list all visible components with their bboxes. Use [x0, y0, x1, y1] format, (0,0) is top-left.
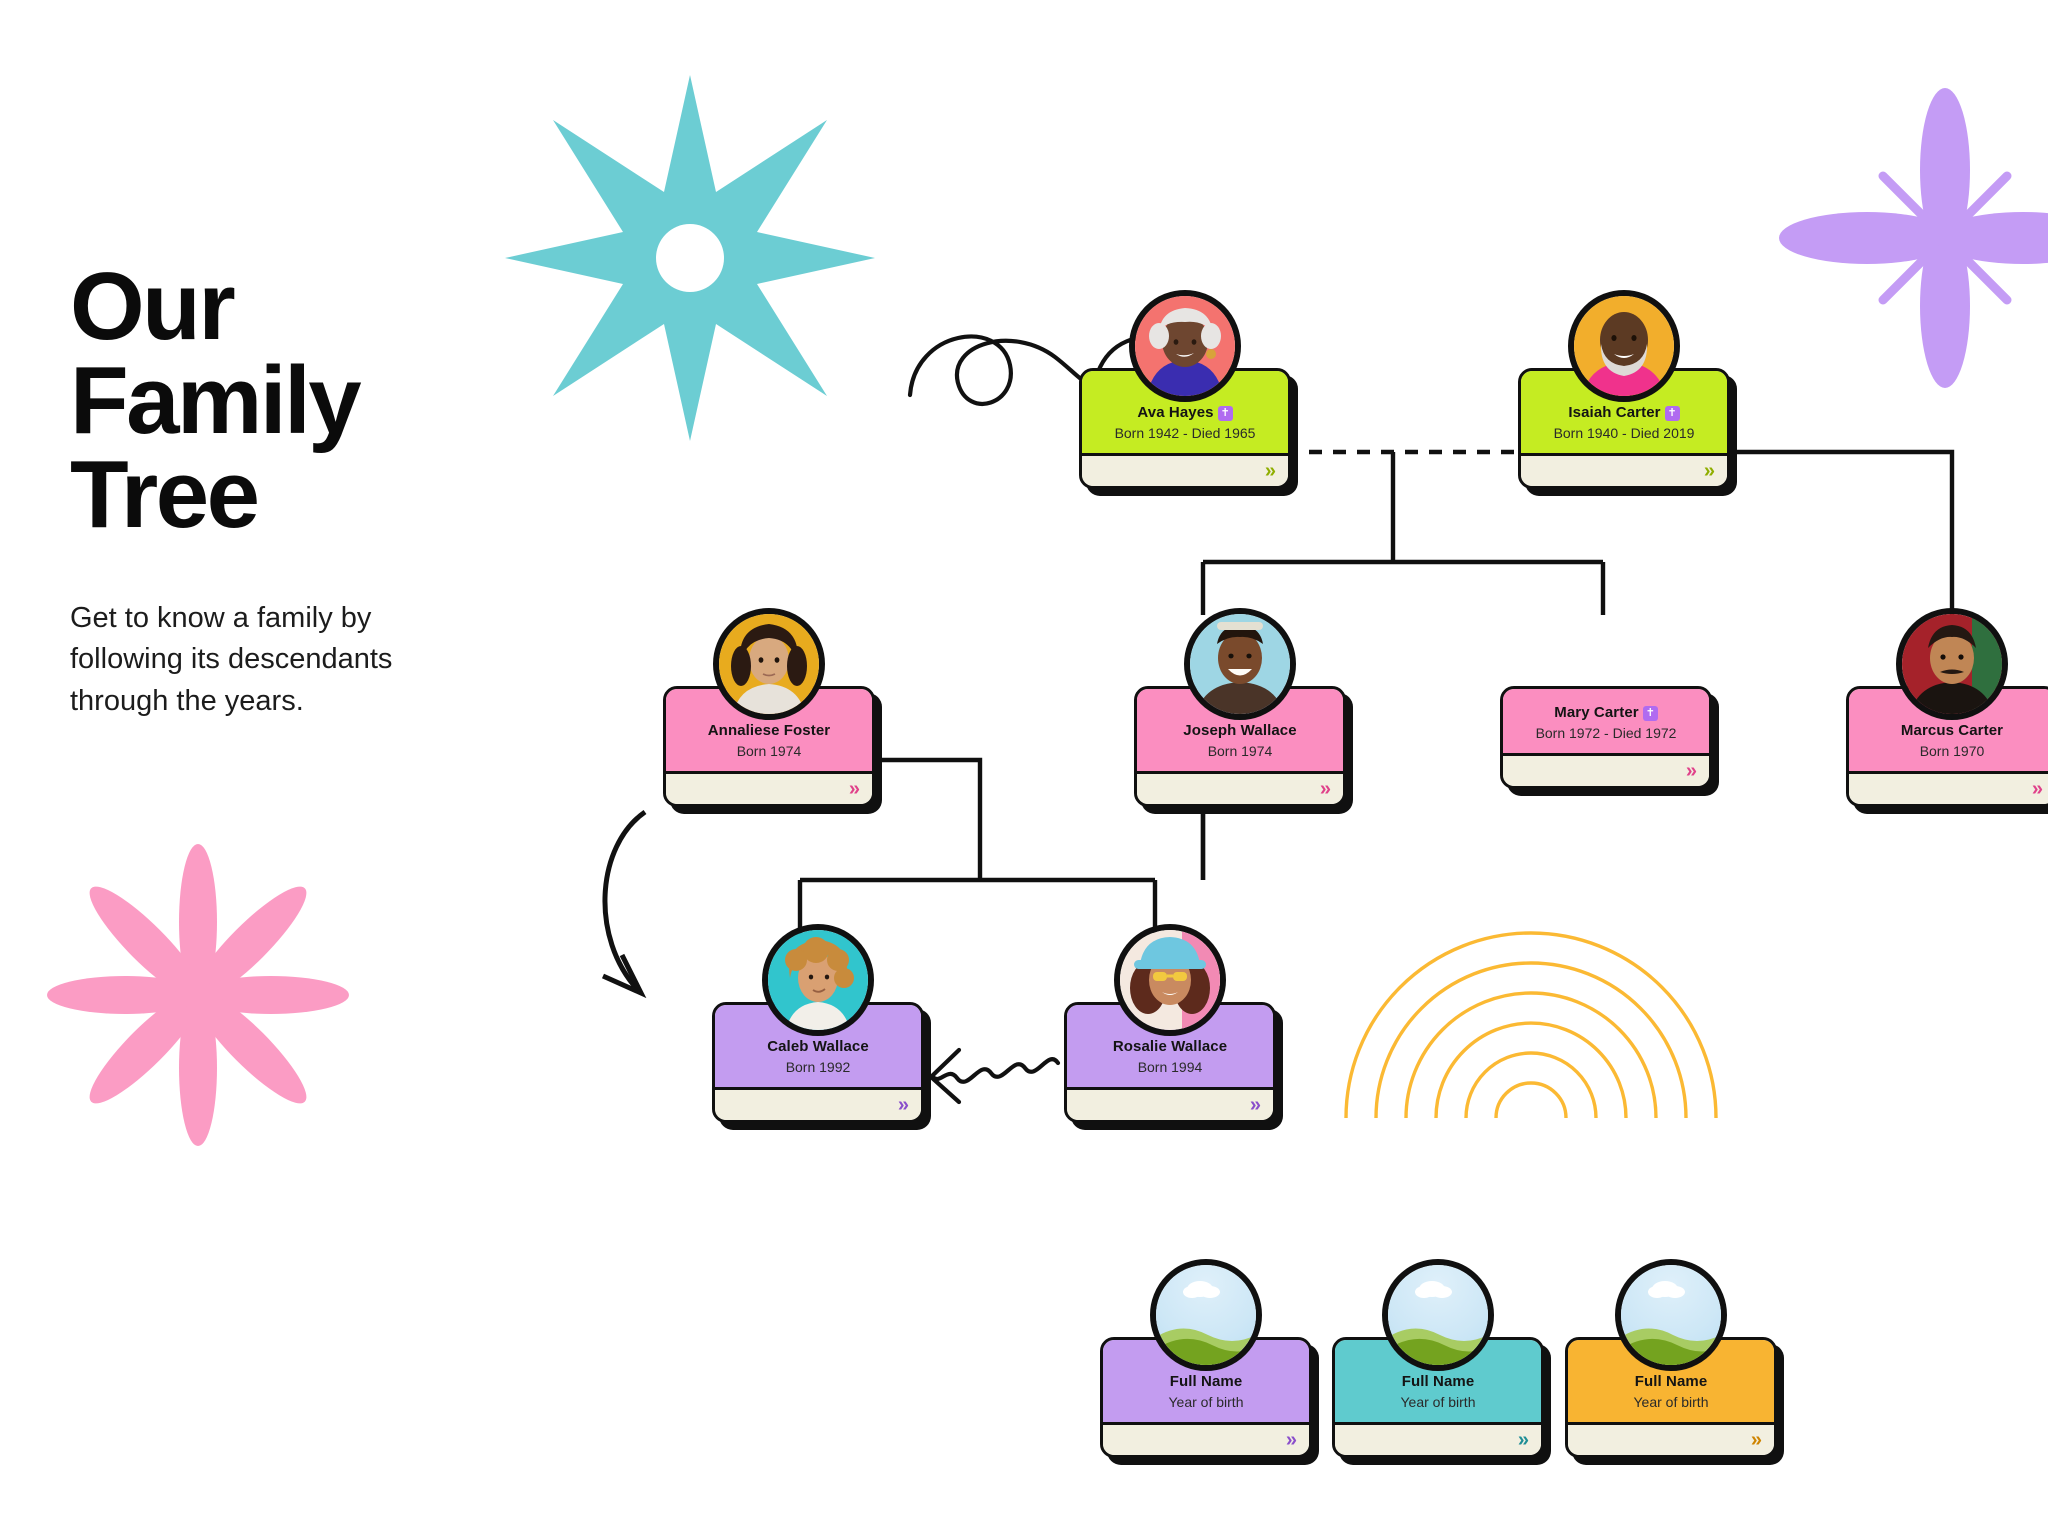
avatar-placeholder-purple	[1150, 1259, 1262, 1371]
person-name-text: Ava Hayes	[1137, 405, 1213, 422]
person-dates: Born 1994	[1075, 1060, 1265, 1075]
card-footer-rosalie-wallace[interactable]: »	[1067, 1090, 1273, 1120]
card-footer-ava-hayes[interactable]: »	[1082, 456, 1288, 486]
person-name: Full Name	[1343, 1374, 1533, 1391]
avatar-placeholder-teal	[1382, 1259, 1494, 1371]
portrait-man-smiling-icon	[1190, 614, 1290, 714]
card-footer-template-teal[interactable]: »	[1335, 1425, 1541, 1455]
avatar-joseph-wallace	[1184, 608, 1296, 720]
portrait-man-bald-beard-icon	[1574, 296, 1674, 396]
person-name: Ava Hayes ✝	[1090, 405, 1280, 422]
avatar-ava-hayes	[1129, 290, 1241, 402]
landscape-placeholder-icon	[1156, 1265, 1256, 1365]
person-name: Marcus Carter	[1857, 723, 2047, 740]
family-tree-canvas: Our Family Tree Get to know a family by …	[0, 0, 2048, 1536]
headline-block: Our Family Tree Get to know a family by …	[70, 260, 490, 722]
portrait-man-moustache-icon	[1902, 614, 2002, 714]
person-name-text: Caleb Wallace	[767, 1039, 869, 1056]
person-dates: Year of birth	[1343, 1395, 1533, 1410]
person-dates: Born 1992	[723, 1060, 913, 1075]
person-name: Mary Carter ✝	[1511, 705, 1701, 722]
avatar-placeholder-amber	[1615, 1259, 1727, 1371]
person-dates: Year of birth	[1111, 1395, 1301, 1410]
person-name-text: Full Name	[1402, 1374, 1475, 1391]
card-footer-template-amber[interactable]: »	[1568, 1425, 1774, 1455]
person-name-text: Rosalie Wallace	[1113, 1039, 1227, 1056]
person-dates: Year of birth	[1576, 1395, 1766, 1410]
person-name: Full Name	[1576, 1374, 1766, 1391]
card-footer-template-purple[interactable]: »	[1103, 1425, 1309, 1455]
person-name: Caleb Wallace	[723, 1039, 913, 1056]
card-footer-mary-carter[interactable]: »	[1503, 756, 1709, 786]
person-name-text: Isaiah Carter	[1568, 405, 1660, 422]
person-dates: Born 1970	[1857, 744, 2047, 759]
expand-chevron-icon[interactable]: »	[1265, 461, 1276, 481]
avatar-isaiah-carter	[1568, 290, 1680, 402]
card-footer-isaiah-carter[interactable]: »	[1521, 456, 1727, 486]
person-dates: Born 1974	[1145, 744, 1335, 759]
person-name-text: Full Name	[1635, 1374, 1708, 1391]
landscape-placeholder-icon	[1621, 1265, 1721, 1365]
expand-chevron-icon[interactable]: »	[898, 1095, 909, 1115]
expand-chevron-icon[interactable]: »	[849, 779, 860, 799]
landscape-placeholder-icon	[1388, 1265, 1488, 1365]
portrait-person-curly-blonde-icon	[768, 930, 868, 1030]
expand-chevron-icon[interactable]: »	[1518, 1430, 1529, 1450]
card-footer-caleb-wallace[interactable]: »	[715, 1090, 921, 1120]
card-footer-annaliese-foster[interactable]: »	[666, 774, 872, 804]
expand-chevron-icon[interactable]: »	[1704, 461, 1715, 481]
person-dates: Born 1972 - Died 1972	[1511, 726, 1701, 741]
person-name-text: Joseph Wallace	[1183, 723, 1296, 740]
person-name: Joseph Wallace	[1145, 723, 1335, 740]
portrait-woman-curly-hair-icon	[719, 614, 819, 714]
person-name: Full Name	[1111, 1374, 1301, 1391]
page-subtitle: Get to know a family by following its de…	[70, 598, 455, 722]
expand-chevron-icon[interactable]: »	[1686, 761, 1697, 781]
person-name-text: Annaliese Foster	[708, 723, 830, 740]
person-dates: Born 1974	[674, 744, 864, 759]
expand-chevron-icon[interactable]: »	[1751, 1430, 1762, 1450]
person-name-text: Marcus Carter	[1901, 723, 2003, 740]
page-title: Our Family Tree	[70, 260, 490, 542]
card-footer-joseph-wallace[interactable]: »	[1137, 774, 1343, 804]
person-name: Annaliese Foster	[674, 723, 864, 740]
deceased-marker-icon: ✝	[1643, 706, 1658, 721]
isaiah-right-branch	[1732, 452, 1952, 615]
card-text-mary-carter: Mary Carter ✝ Born 1972 - Died 1972	[1503, 689, 1709, 756]
card-body-wrap-mary-carter[interactable]: Mary Carter ✝ Born 1972 - Died 1972 »	[1500, 686, 1712, 789]
portrait-woman-grey-hair-icon	[1135, 296, 1235, 396]
expand-chevron-icon[interactable]: »	[1320, 779, 1331, 799]
avatar-marcus-carter	[1896, 608, 2008, 720]
expand-chevron-icon[interactable]: »	[2032, 779, 2043, 799]
card-footer-marcus-carter[interactable]: »	[1849, 774, 2048, 804]
person-dates: Born 1940 - Died 2019	[1529, 426, 1719, 441]
avatar-caleb-wallace	[762, 924, 874, 1036]
person-name: Isaiah Carter ✝	[1529, 405, 1719, 422]
deceased-marker-icon: ✝	[1665, 406, 1680, 421]
person-name-text: Full Name	[1170, 1374, 1243, 1391]
person-name: Rosalie Wallace	[1075, 1039, 1265, 1056]
expand-chevron-icon[interactable]: »	[1250, 1095, 1261, 1115]
avatar-annaliese-foster	[713, 608, 825, 720]
annaliese-joseph-link	[865, 760, 980, 880]
avatar-rosalie-wallace	[1114, 924, 1226, 1036]
deceased-marker-icon: ✝	[1218, 406, 1233, 421]
person-name-text: Mary Carter	[1554, 705, 1638, 722]
expand-chevron-icon[interactable]: »	[1286, 1430, 1297, 1450]
person-dates: Born 1942 - Died 1965	[1090, 426, 1280, 441]
portrait-woman-bucket-hat-icon	[1120, 930, 1220, 1030]
connector-lines-layer	[0, 0, 2048, 1536]
